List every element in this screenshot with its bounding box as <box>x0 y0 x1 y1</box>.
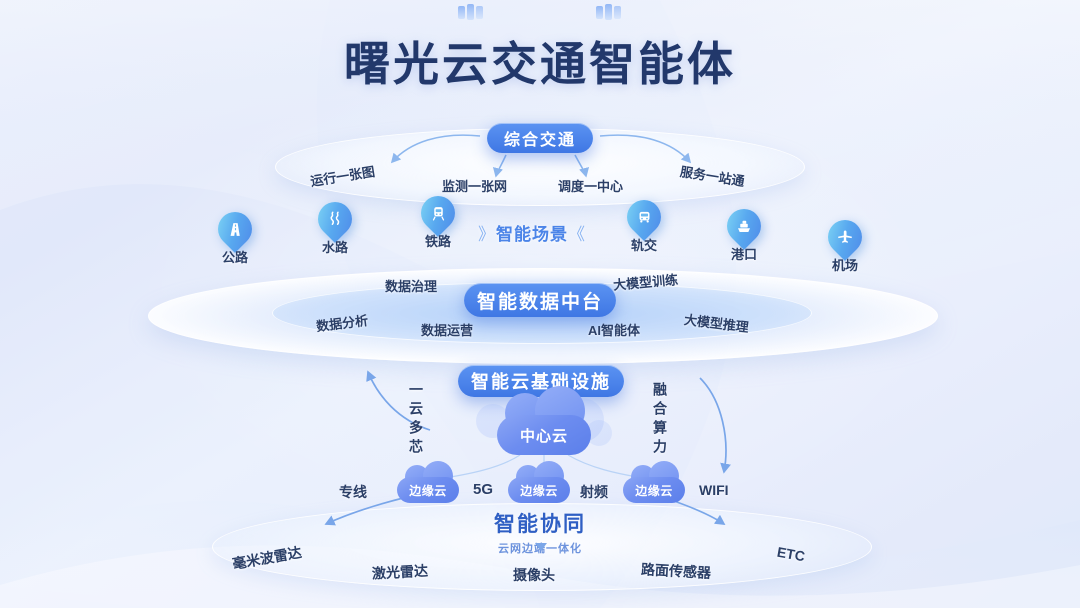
chevron-right-icon: 《 <box>568 225 586 244</box>
train-icon <box>421 196 455 230</box>
airplane-icon <box>828 220 862 254</box>
edge-row-item-4[interactable]: 射频 <box>580 482 608 502</box>
data-item-5[interactable]: 大模型推理 <box>683 309 750 336</box>
edge-row-item-0[interactable]: 专线 <box>339 482 367 502</box>
scene-label-5: 机场 <box>832 255 858 274</box>
edge-row-item-3: 边缘云 <box>508 477 570 503</box>
scene-pin-railway[interactable]: 铁路 <box>421 196 455 236</box>
collab-title: 智能协同 <box>0 508 1080 538</box>
collab-item-0[interactable]: 毫米波雷达 <box>231 542 303 574</box>
infographic-canvas: 曙光云交通智能体 综合交通 运行一张图 监测一张网 调度一中心 <box>0 0 1080 608</box>
collab-item-2[interactable]: 摄像头 <box>513 565 555 585</box>
scene-pin-airport[interactable]: 机场 <box>828 220 862 260</box>
scene-pin-highway[interactable]: 公路 <box>218 212 252 252</box>
cloud-edge-2[interactable]: 边缘云 <box>508 477 570 503</box>
scene-pin-port[interactable]: 港口 <box>727 209 761 249</box>
data-item-3[interactable]: 数据运营 <box>421 320 473 339</box>
scene-label-3: 轨交 <box>631 235 657 254</box>
collab-item-1[interactable]: 激光雷达 <box>372 561 429 584</box>
flag-right-icon <box>596 4 622 20</box>
metro-bus-icon <box>627 200 661 234</box>
badge-data-platform[interactable]: 智能数据中台 <box>464 283 616 317</box>
badge-cloud-infra[interactable]: 智能云基础设施 <box>458 365 624 397</box>
page-title: 曙光云交通智能体 <box>0 28 1080 94</box>
waterway-icon <box>318 202 352 236</box>
business-item-1[interactable]: 监测一张网 <box>442 176 507 195</box>
scene-label-1: 水路 <box>322 237 348 256</box>
cloud-edge-1[interactable]: 边缘云 <box>397 477 459 503</box>
business-item-3[interactable]: 服务一站通 <box>679 161 746 190</box>
chevron-left-icon: 》 <box>478 225 496 244</box>
data-item-0[interactable]: 数据治理 <box>385 276 437 295</box>
collab-item-4[interactable]: ETC <box>776 544 806 565</box>
business-item-0[interactable]: 运行一张图 <box>309 161 376 190</box>
cloud-center-label: 中心云 <box>497 415 591 455</box>
cloud-left-vertical-text: 一云多芯 <box>406 382 426 458</box>
cloud-edge-3[interactable]: 边缘云 <box>623 477 685 503</box>
down-arrow-icon <box>535 543 547 551</box>
scene-pin-metro[interactable]: 轨交 <box>627 200 661 240</box>
edge-row-item-2[interactable]: 5G <box>473 481 493 498</box>
ship-icon <box>727 209 761 243</box>
data-item-1[interactable]: 大模型训练 <box>612 269 678 294</box>
flag-left-icon <box>458 4 484 20</box>
scene-pin-waterway[interactable]: 水路 <box>318 202 352 242</box>
badge-business-layer[interactable]: 综合交通 <box>487 123 593 153</box>
data-item-4[interactable]: AI智能体 <box>588 320 640 339</box>
collab-item-3[interactable]: 路面传感器 <box>641 559 712 583</box>
cloud-center[interactable]: 中心云 <box>497 415 591 455</box>
data-item-2[interactable]: 数据分析 <box>315 310 369 335</box>
scene-label-0: 公路 <box>222 247 248 266</box>
edge-row-item-1: 边缘云 <box>397 477 459 503</box>
scene-label-4: 港口 <box>731 244 757 263</box>
scene-layer-caption: 》智能场景《 <box>478 220 586 245</box>
edge-row-item-5: 边缘云 <box>623 477 685 503</box>
cloud-right-vertical-text: 融合算力 <box>650 382 670 458</box>
edge-row-item-6[interactable]: WIFI <box>699 482 729 498</box>
highway-icon <box>218 212 252 246</box>
business-item-2[interactable]: 调度一中心 <box>558 176 623 195</box>
scene-label-2: 铁路 <box>425 231 451 250</box>
scene-caption-text: 智能场景 <box>496 225 568 244</box>
